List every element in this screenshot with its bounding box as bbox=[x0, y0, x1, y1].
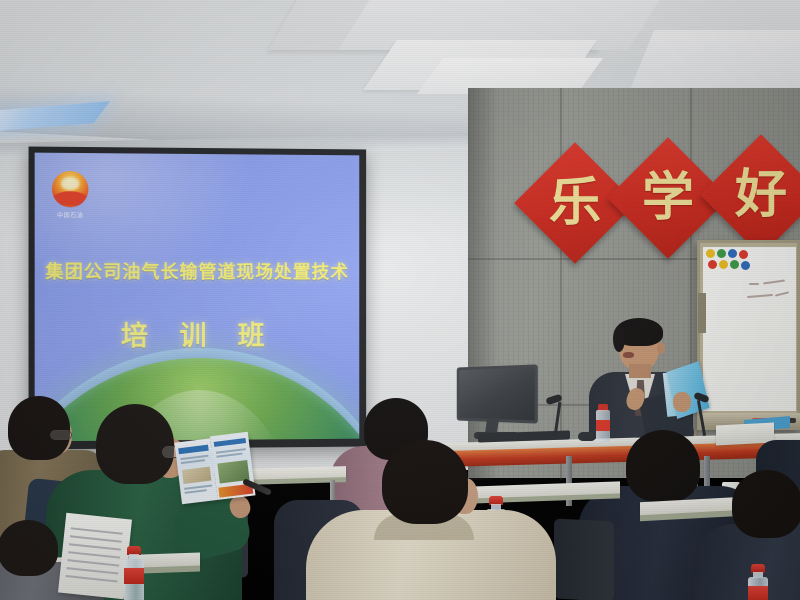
petrochina-sun-logo-icon bbox=[52, 171, 88, 207]
attendee-head bbox=[96, 404, 174, 484]
slide-title: 集团公司油气长输管道现场处置技术 bbox=[35, 258, 360, 285]
mouse[interactable] bbox=[578, 432, 596, 441]
banner-char: 学 bbox=[625, 155, 711, 241]
banner-char: 好 bbox=[718, 152, 800, 238]
slide-logo: 中国石油 bbox=[49, 171, 92, 220]
attendee-head bbox=[732, 470, 800, 538]
water-bottle[interactable] bbox=[748, 564, 768, 600]
document-sheets bbox=[58, 513, 132, 599]
attendee-head bbox=[382, 440, 468, 524]
presenter-hand bbox=[673, 392, 691, 412]
chair[interactable] bbox=[554, 518, 614, 600]
presenter-mouth bbox=[623, 352, 634, 358]
whiteboard bbox=[697, 240, 800, 430]
presenter-ear bbox=[657, 342, 665, 354]
list-item bbox=[330, 440, 540, 600]
lcd-monitor[interactable] bbox=[452, 366, 538, 440]
slide-logo-caption: 中国石油 bbox=[49, 210, 92, 219]
photo-scene: 乐 学 好 中国石油 集团公司油气长输管道现场处置技术 培 训 班 bbox=[0, 0, 800, 600]
presenter-hair bbox=[613, 326, 625, 352]
stone-seam bbox=[560, 88, 562, 480]
presenter-neck bbox=[629, 364, 651, 378]
brochure bbox=[174, 434, 255, 505]
bottle-label bbox=[124, 568, 144, 584]
monitor-panel bbox=[457, 364, 538, 423]
bottle-label bbox=[748, 586, 768, 600]
attendee-head bbox=[626, 430, 700, 502]
banner-char: 乐 bbox=[532, 160, 618, 246]
whiteboard-magnets[interactable] bbox=[706, 249, 748, 275]
attendee-head bbox=[0, 520, 58, 576]
water-bottle[interactable] bbox=[124, 546, 144, 600]
whiteboard-handwriting bbox=[747, 281, 793, 315]
slide-subtitle: 培 训 班 bbox=[35, 314, 360, 354]
whiteboard-clip bbox=[698, 293, 706, 333]
